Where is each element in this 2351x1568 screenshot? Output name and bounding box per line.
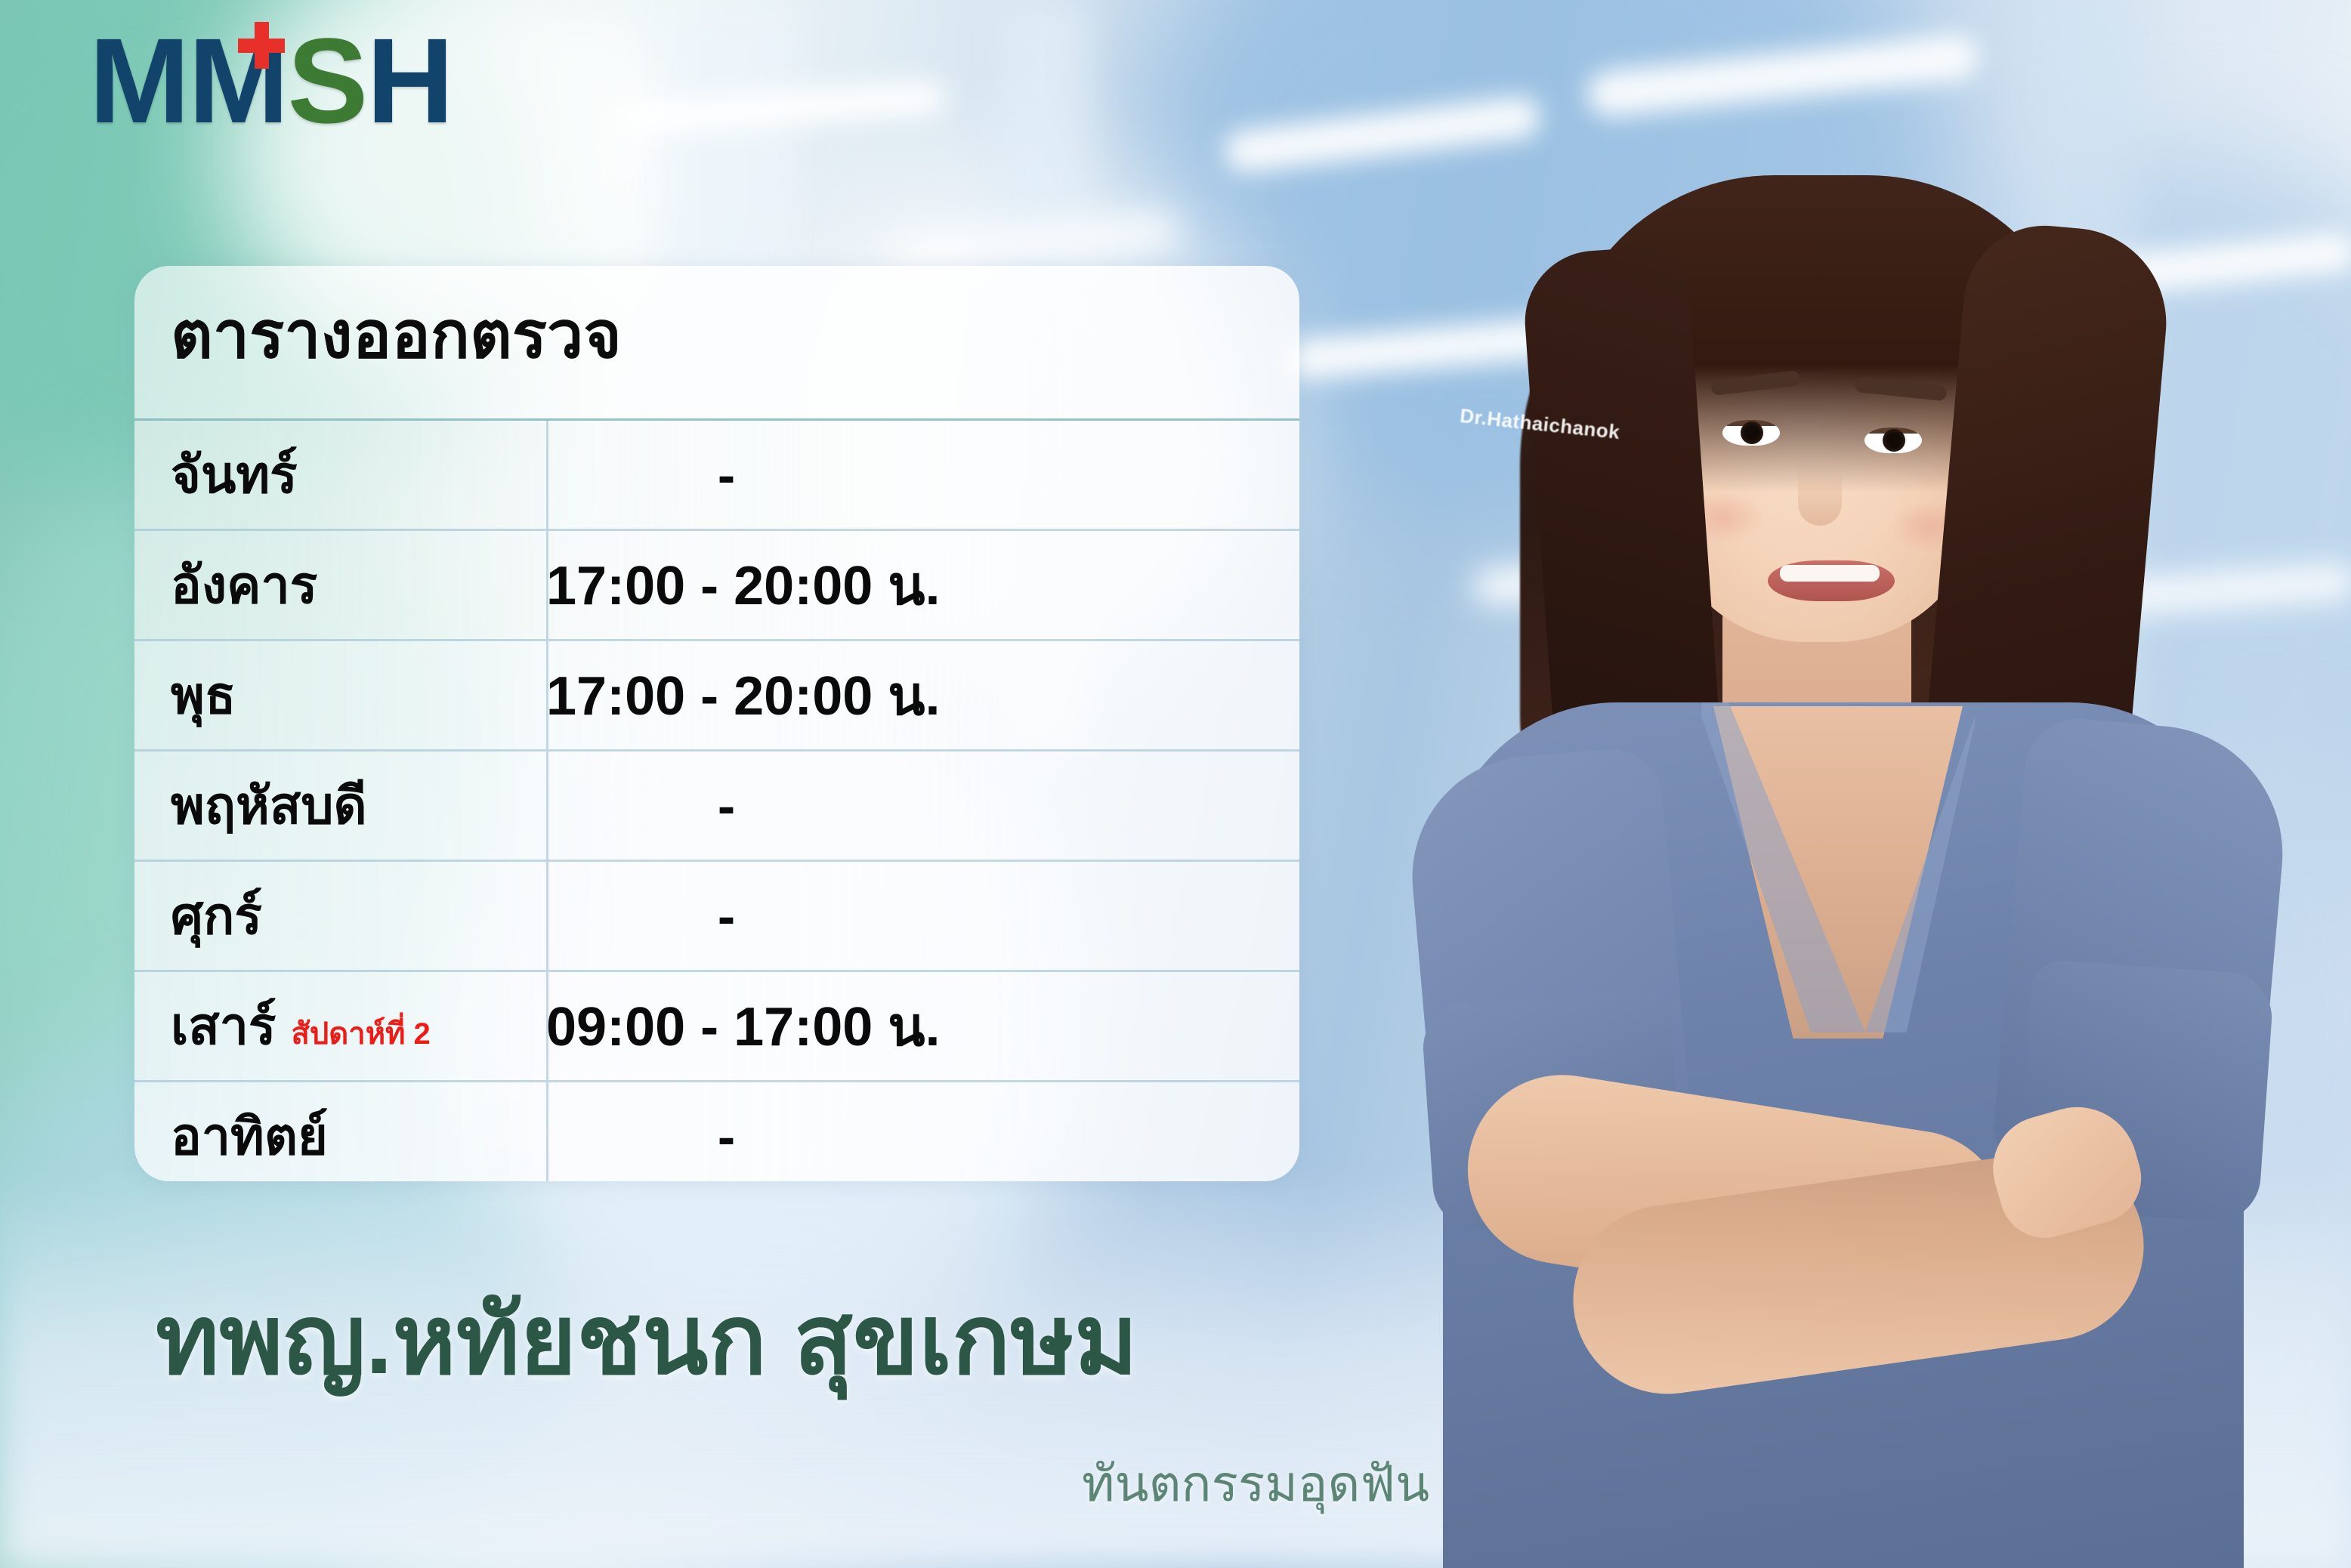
clinic-schedule-poster: Dr.Hathaichanok M M S H ตารางออกตรวจ จัน… [0, 0, 2351, 1568]
day-cell: พฤหัสบดี [134, 780, 546, 832]
day-label: เสาร์ [171, 1001, 276, 1052]
schedule-title: ตารางออกตรวจ [171, 282, 622, 386]
day-cell: อังคาร [134, 560, 546, 611]
day-label: อาทิตย์ [171, 1111, 328, 1162]
day-cell: อาทิตย์ [134, 1111, 546, 1162]
doctor-name: ทพญ.หทัยชนก สุขเกษม [156, 1263, 1138, 1416]
time-cell: 17:00 - 20:00 น. [546, 542, 1299, 628]
table-row: พฤหัสบดี - [134, 749, 1299, 860]
column-divider [546, 421, 548, 529]
day-note: สัปดาห์ที่ 2 [291, 1019, 430, 1049]
doctor-portrait: Dr.Hathaichanok [1239, 0, 2351, 1568]
column-divider [546, 531, 548, 639]
schedule-card: ตารางออกตรวจ จันทร์ - อังคาร 17:00 - 20:… [134, 266, 1299, 1181]
table-row: อังคาร 17:00 - 20:00 น. [134, 529, 1299, 639]
column-divider [546, 641, 548, 749]
column-divider [546, 752, 548, 860]
day-cell: ศุกร์ [134, 890, 546, 942]
logo-letter-s: S [288, 25, 367, 136]
time-cell: - [546, 776, 1299, 836]
time-cell: - [546, 445, 1299, 505]
schedule-table: จันทร์ - อังคาร 17:00 - 20:00 น. พุธ [134, 418, 1299, 1181]
column-divider [546, 1082, 548, 1181]
time-cell: 09:00 - 17:00 น. [546, 983, 1299, 1070]
time-cell: - [546, 886, 1299, 946]
day-label: พฤหัสบดี [171, 780, 367, 832]
time-cell: 17:00 - 20:00 น. [546, 652, 1299, 739]
table-row: ศุกร์ - [134, 860, 1299, 970]
day-cell: จันทร์ [134, 449, 546, 501]
day-label: ศุกร์ [171, 890, 262, 942]
column-divider [546, 862, 548, 970]
day-label: อังคาร [171, 560, 317, 611]
table-row: พุธ 17:00 - 20:00 น. [134, 639, 1299, 749]
time-cell: - [546, 1107, 1299, 1167]
day-label: พุธ [171, 670, 236, 721]
day-cell: เสาร์ สัปดาห์ที่ 2 [134, 1001, 546, 1052]
table-row: จันทร์ - [134, 418, 1299, 529]
logo-letter-h: H [366, 25, 453, 136]
day-label: จันทร์ [171, 449, 298, 501]
table-row: อาทิตย์ - [134, 1080, 1299, 1181]
column-divider [546, 972, 548, 1080]
table-row: เสาร์ สัปดาห์ที่ 2 09:00 - 17:00 น. [134, 970, 1299, 1080]
day-cell: พุธ [134, 670, 546, 721]
doctor-specialty: ทันตกรรมอุดฟัน [1082, 1444, 1429, 1523]
mmsh-logo: M M S H [89, 23, 453, 136]
logo-letter-m1: M [89, 25, 188, 136]
medical-cross-icon [238, 22, 285, 69]
